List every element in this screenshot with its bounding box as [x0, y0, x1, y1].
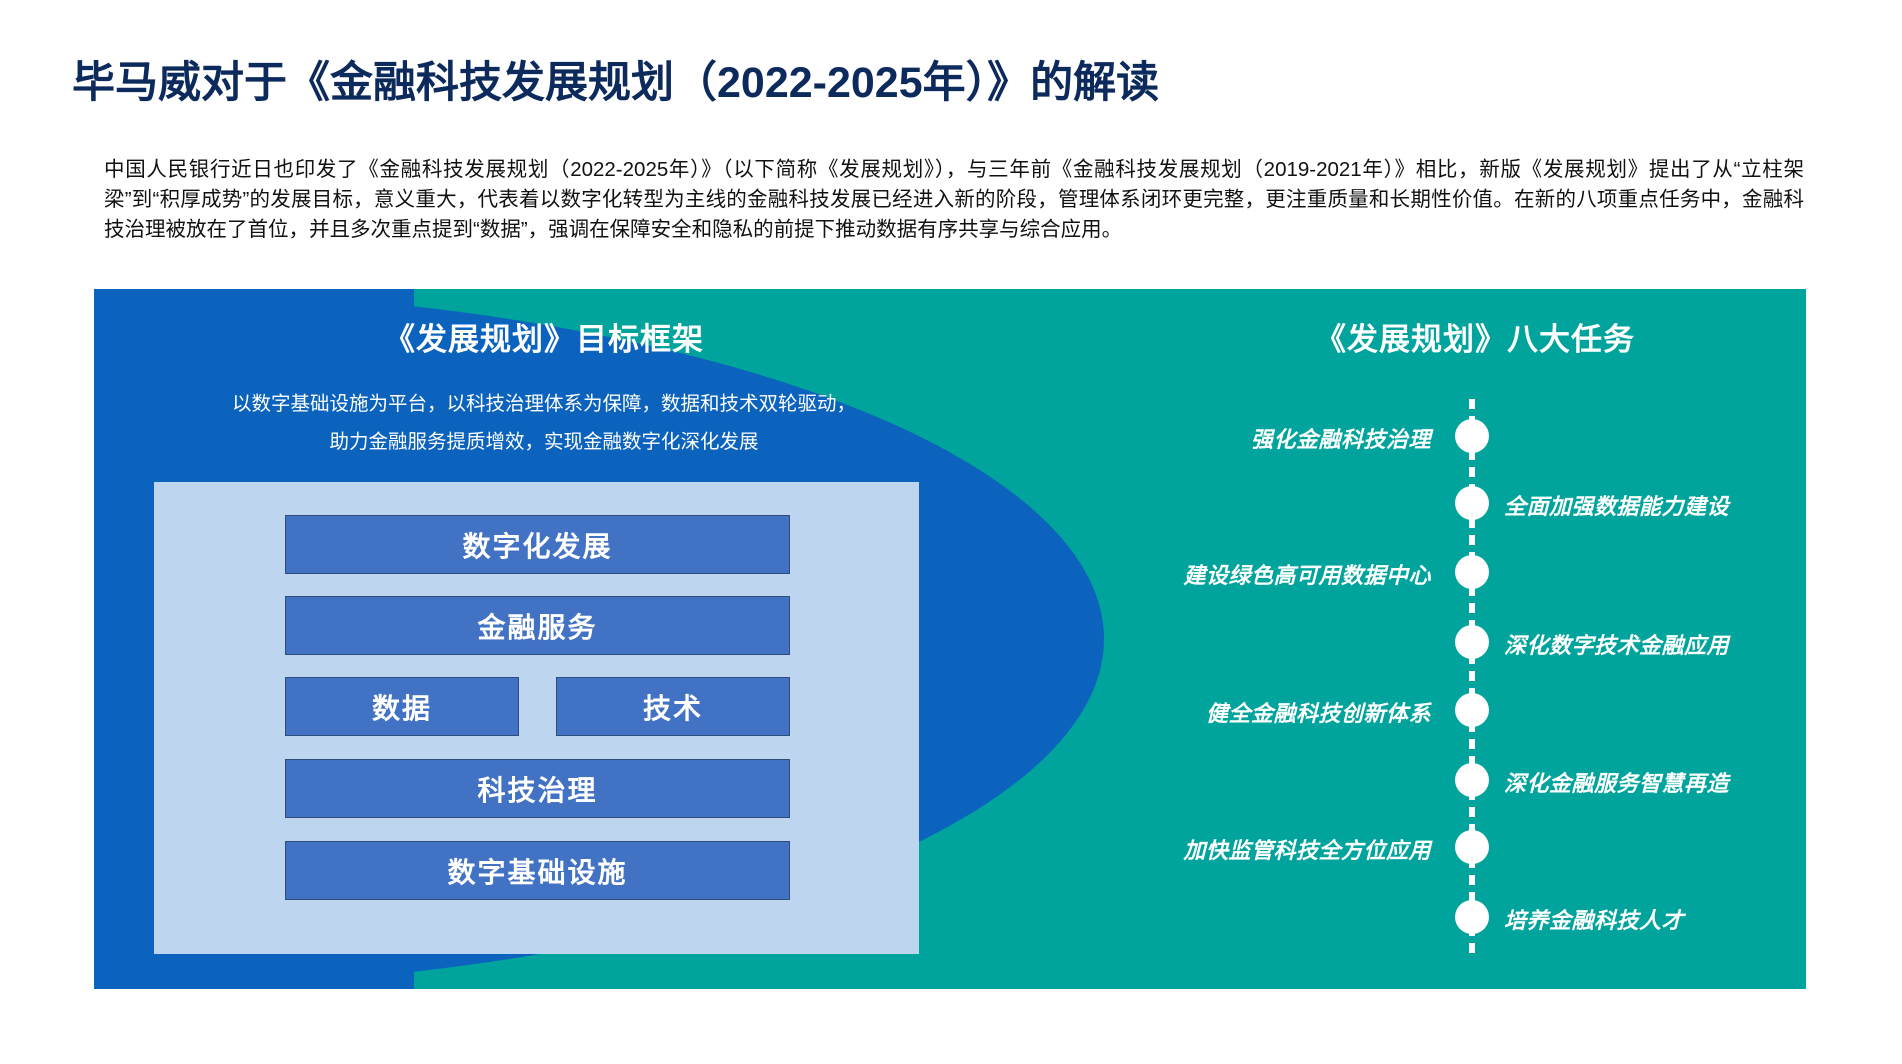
framework-box-digital-development: 数字化发展: [285, 515, 790, 574]
goal-framework-subtitle-line-2: 助力金融服务提质增效，实现金融数字化深化发展: [94, 423, 994, 461]
task-node-marker: [1455, 763, 1489, 797]
task-label: 培养金融科技人才: [1504, 903, 1684, 935]
task-label: 深化数字技术金融应用: [1504, 628, 1729, 660]
task-node-marker: [1455, 830, 1489, 864]
framework-box-financial-service: 金融服务: [285, 596, 790, 655]
intro-paragraph-text: 中国人民银行近日也印发了《金融科技发展规划（2022-2025年）》（以下简称《…: [104, 155, 1804, 245]
goal-framework-title: 《发展规划》目标框架: [94, 314, 994, 359]
goal-framework-section: 《发展规划》目标框架 以数字基础设施为平台，以科技治理体系为保障，数据和技术双轮…: [94, 289, 994, 989]
framework-box-technology: 技术: [556, 677, 790, 736]
task-node-marker: [1455, 419, 1489, 453]
dotted-timeline-line: [1469, 399, 1475, 959]
framework-box-pair-row: 数据 技术: [285, 677, 790, 736]
page-title: 毕马威对于《金融科技发展规划（2022-2025年）》的解读: [72, 48, 1159, 110]
task-label: 加快监管科技全方位应用: [1183, 833, 1431, 865]
task-node-marker: [1455, 555, 1489, 589]
task-label: 全面加强数据能力建设: [1504, 489, 1729, 521]
task-node-marker: [1455, 900, 1489, 934]
task-label: 强化金融科技治理: [1251, 422, 1431, 454]
task-node-marker: [1455, 486, 1489, 520]
eight-tasks-title: 《发展规划》八大任务: [1104, 314, 1806, 359]
goal-framework-subtitle-line-1: 以数字基础设施为平台，以科技治理体系为保障，数据和技术双轮驱动，: [94, 385, 994, 423]
eight-tasks-section: 《发展规划》八大任务 强化金融科技治理全面加强数据能力建设建设绿色高可用数据中心…: [1104, 289, 1806, 989]
task-label: 深化金融服务智慧再造: [1504, 766, 1729, 798]
task-node-marker: [1455, 625, 1489, 659]
task-label: 健全金融科技创新体系: [1206, 696, 1431, 728]
intro-paragraph: 中国人民银行近日也印发了《金融科技发展规划（2022-2025年）》（以下简称《…: [104, 155, 1804, 245]
framework-box-tech-governance: 科技治理: [285, 759, 790, 818]
framework-stack-container: 数字化发展 金融服务 数据 技术 科技治理 数字基础设施: [154, 482, 919, 954]
task-node-marker: [1455, 693, 1489, 727]
framework-box-digital-infrastructure: 数字基础设施: [285, 841, 790, 900]
main-infographic-panel: 《发展规划》目标框架 以数字基础设施为平台，以科技治理体系为保障，数据和技术双轮…: [94, 289, 1806, 989]
task-label: 建设绿色高可用数据中心: [1183, 558, 1431, 590]
framework-box-data: 数据: [285, 677, 519, 736]
